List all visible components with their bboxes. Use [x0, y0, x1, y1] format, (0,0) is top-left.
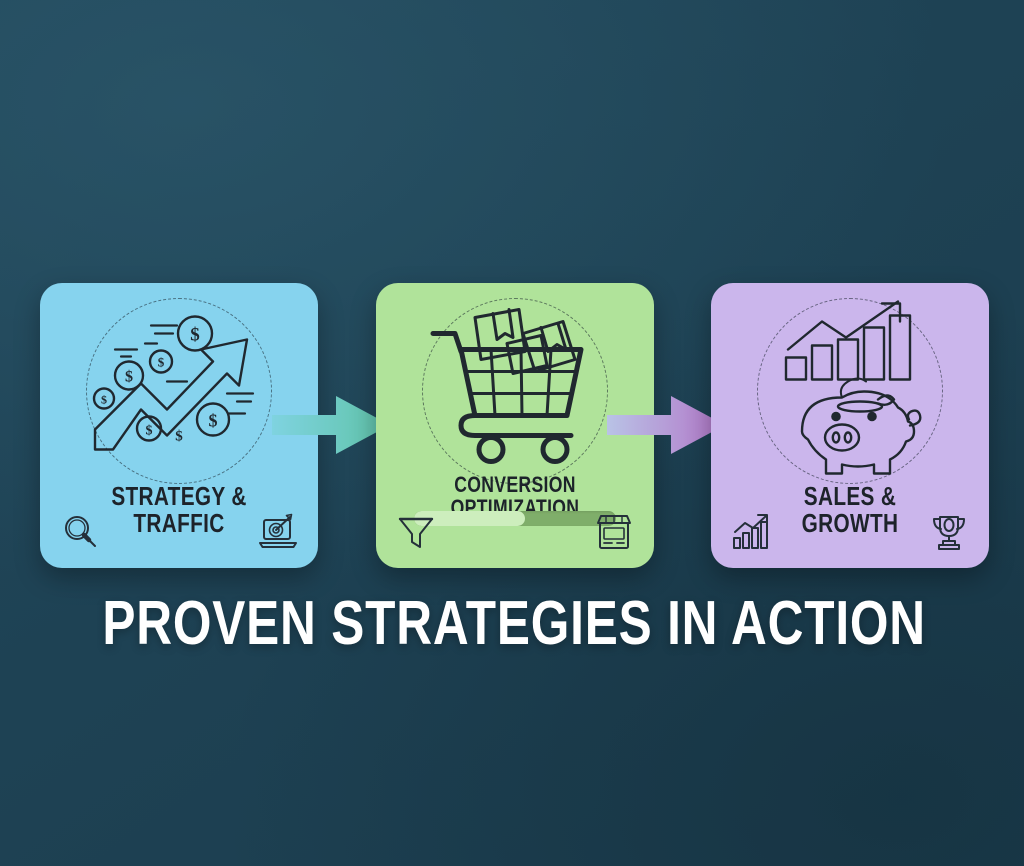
- svg-text:$: $: [190, 325, 200, 346]
- svg-text:$: $: [158, 355, 165, 370]
- svg-text:$: $: [175, 429, 183, 445]
- svg-text:$: $: [146, 424, 153, 439]
- piggy-bank-with-bar-chart-icon: [750, 304, 950, 479]
- storefront-icon: [592, 510, 636, 554]
- card-content: SALES & GROWTH: [711, 283, 989, 568]
- progress-bar[interactable]: [414, 511, 616, 526]
- card-sales-growth[interactable]: SALES & GROWTH: [711, 283, 989, 568]
- growth-arrow-with-coins-icon: $ $ $ $ $: [79, 304, 279, 479]
- magnifying-glass-icon: [58, 510, 102, 554]
- page-title: PROVEN STRATEGIES IN ACTION: [102, 588, 921, 659]
- shopping-cart-with-boxes-icon: [415, 304, 615, 479]
- svg-text:$: $: [125, 369, 133, 386]
- bar-chart-arrow-icon: [729, 510, 773, 554]
- funnel-icon: [394, 510, 438, 554]
- laptop-target-icon: [256, 510, 300, 554]
- svg-text:$: $: [101, 393, 107, 407]
- right-arrow-icon: [272, 396, 390, 454]
- infographic-canvas: $ $ $ $ $: [0, 0, 1024, 866]
- svg-text:$: $: [209, 411, 218, 431]
- trophy-icon: [927, 510, 971, 554]
- right-arrow-icon: [607, 396, 725, 454]
